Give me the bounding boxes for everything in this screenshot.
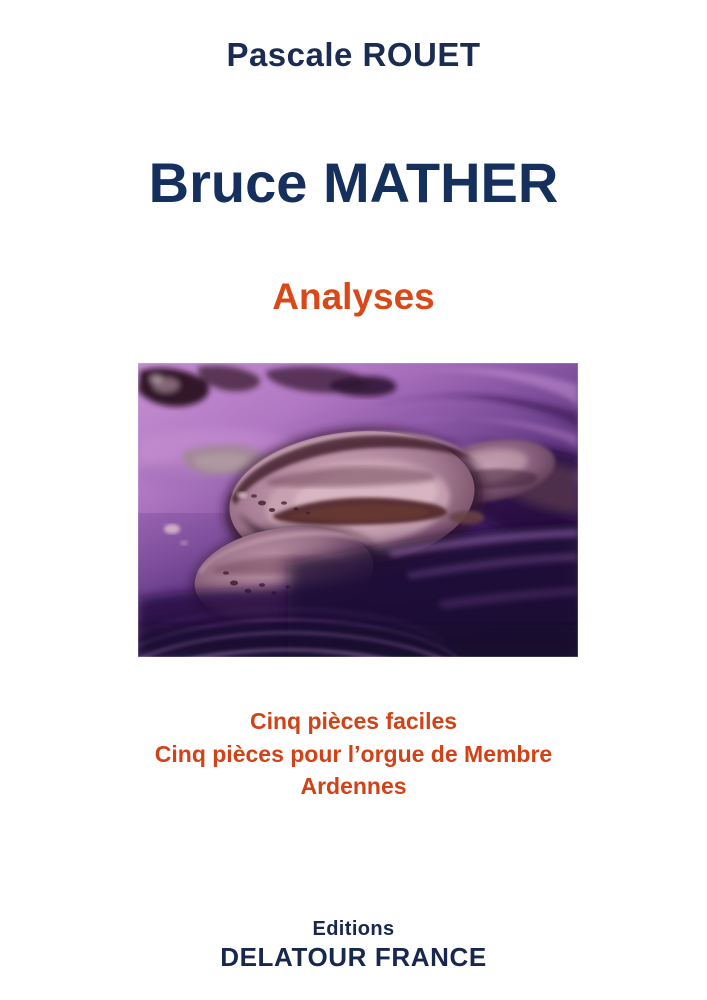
work-line-1: Cinq pièces faciles [0,705,707,738]
publisher-block: Editions DELATOUR FRANCE [0,918,707,972]
publisher-name: Editions [0,918,707,942]
publisher-imprint: DELATOUR FRANCE [0,942,707,973]
author-name: Pascale ROUET [0,36,707,74]
work-line-3: Ardennes [0,770,707,803]
cover-photo [138,363,578,657]
cover-photo-artwork [138,363,578,657]
subtitle: Analyses [0,277,707,318]
works-list: Cinq pièces faciles Cinq pièces pour l’o… [0,705,707,803]
book-cover: Pascale ROUET Bruce MATHER Analyses [0,0,707,1000]
work-line-2: Cinq pièces pour l’orgue de Membre [0,738,707,771]
page-title: Bruce MATHER [0,152,707,214]
